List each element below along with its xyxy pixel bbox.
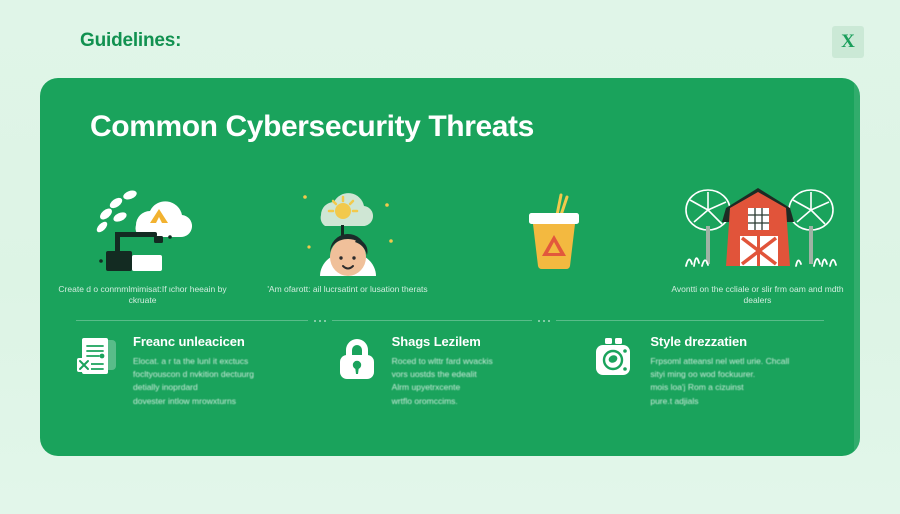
feature-heading-1: Freanc unleacicen [133, 334, 307, 349]
feature-heading-2: Shags Lezilem [392, 334, 566, 349]
icon-caption-4: Avontti on the ccliale or slir frm oam a… [655, 284, 860, 306]
feature-line-2-2: vors uostds the edealit [392, 368, 566, 381]
threats-card: Common Cybersecurity Threats [40, 78, 860, 456]
feature-line-1-4: dovester intlow mrowxturns [133, 395, 307, 408]
person-cloud-sun-icon [295, 181, 400, 276]
camera-icon [593, 336, 637, 382]
close-icon[interactable]: X [832, 26, 864, 58]
feature-line-3-2: sityi ming oo wod fockuurer. [650, 368, 824, 381]
feature-line-3-4: pure.t adjials [650, 395, 824, 408]
page-title: Guidelines: [80, 30, 181, 52]
icon-caption-row: Create d o conmmlmimisat:If ιchor heeain… [40, 284, 860, 306]
divider-line [76, 320, 824, 321]
feature-line-2-3: Alrm upyetrxcente [392, 381, 566, 394]
icon-cell-3 [450, 178, 655, 278]
feature-line-3-3: mois loa'j Rom a cizuinst [650, 381, 824, 394]
feature-text-1: Freanc unleacicen Elocat. a r ta the lun… [133, 334, 307, 408]
feature-row: Freanc unleacicen Elocat. a r ta the lun… [62, 334, 838, 408]
icon-caption-3 [450, 284, 655, 306]
icon-cell-2 [245, 178, 450, 278]
document-x-icon [76, 336, 120, 382]
icon-caption-1: Create d o conmmlmimisat:If ιchor heeain… [40, 284, 245, 306]
divider-dots-right [532, 316, 556, 322]
icon-caption-2: 'Am ofarott: ail lucrsatint or lusation … [245, 284, 450, 306]
feature-line-2-4: wrtflo oromccims. [392, 395, 566, 408]
padlock-icon [335, 336, 379, 382]
card-title: Common Cybersecurity Threats [90, 110, 534, 144]
feature-text-2: Shags Lezilem Roced to wlttr fard wvacki… [392, 334, 566, 408]
icon-cell-4 [655, 178, 860, 278]
feature-line-1-1: Elocat. a r ta the lunl it exctucs [133, 355, 307, 368]
cloud-upload-plant-icon [88, 181, 198, 276]
feature-heading-3: Style drezzatien [650, 334, 824, 349]
icon-cell-1 [40, 178, 245, 278]
feature-item-3[interactable]: Style drezzatien Frpsoml atteansl nel we… [579, 334, 838, 408]
icon-row [40, 178, 860, 278]
feature-item-2[interactable]: Shags Lezilem Roced to wlttr fard wvacki… [321, 334, 580, 408]
feature-line-1-2: focltyouscon d nvkition dectuurg [133, 368, 307, 381]
divider-dots-left [308, 316, 332, 322]
page-header: Guidelines: X [0, 26, 900, 68]
feature-line-2-1: Roced to wlttr fard wvackis [392, 355, 566, 368]
page-background: Guidelines: X Common Cybersecurity Threa… [0, 0, 900, 514]
section-divider [76, 316, 824, 326]
feature-line-3-1: Frpsoml atteansl nel wetl urie. Chcall [650, 355, 824, 368]
feature-text-3: Style drezzatien Frpsoml atteansl nel we… [650, 334, 824, 408]
red-barn-trees-icon [668, 178, 848, 278]
warning-cup-icon [513, 181, 593, 276]
feature-line-1-3: detially inoprdard [133, 381, 307, 394]
feature-item-1[interactable]: Freanc unleacicen Elocat. a r ta the lun… [62, 334, 321, 408]
